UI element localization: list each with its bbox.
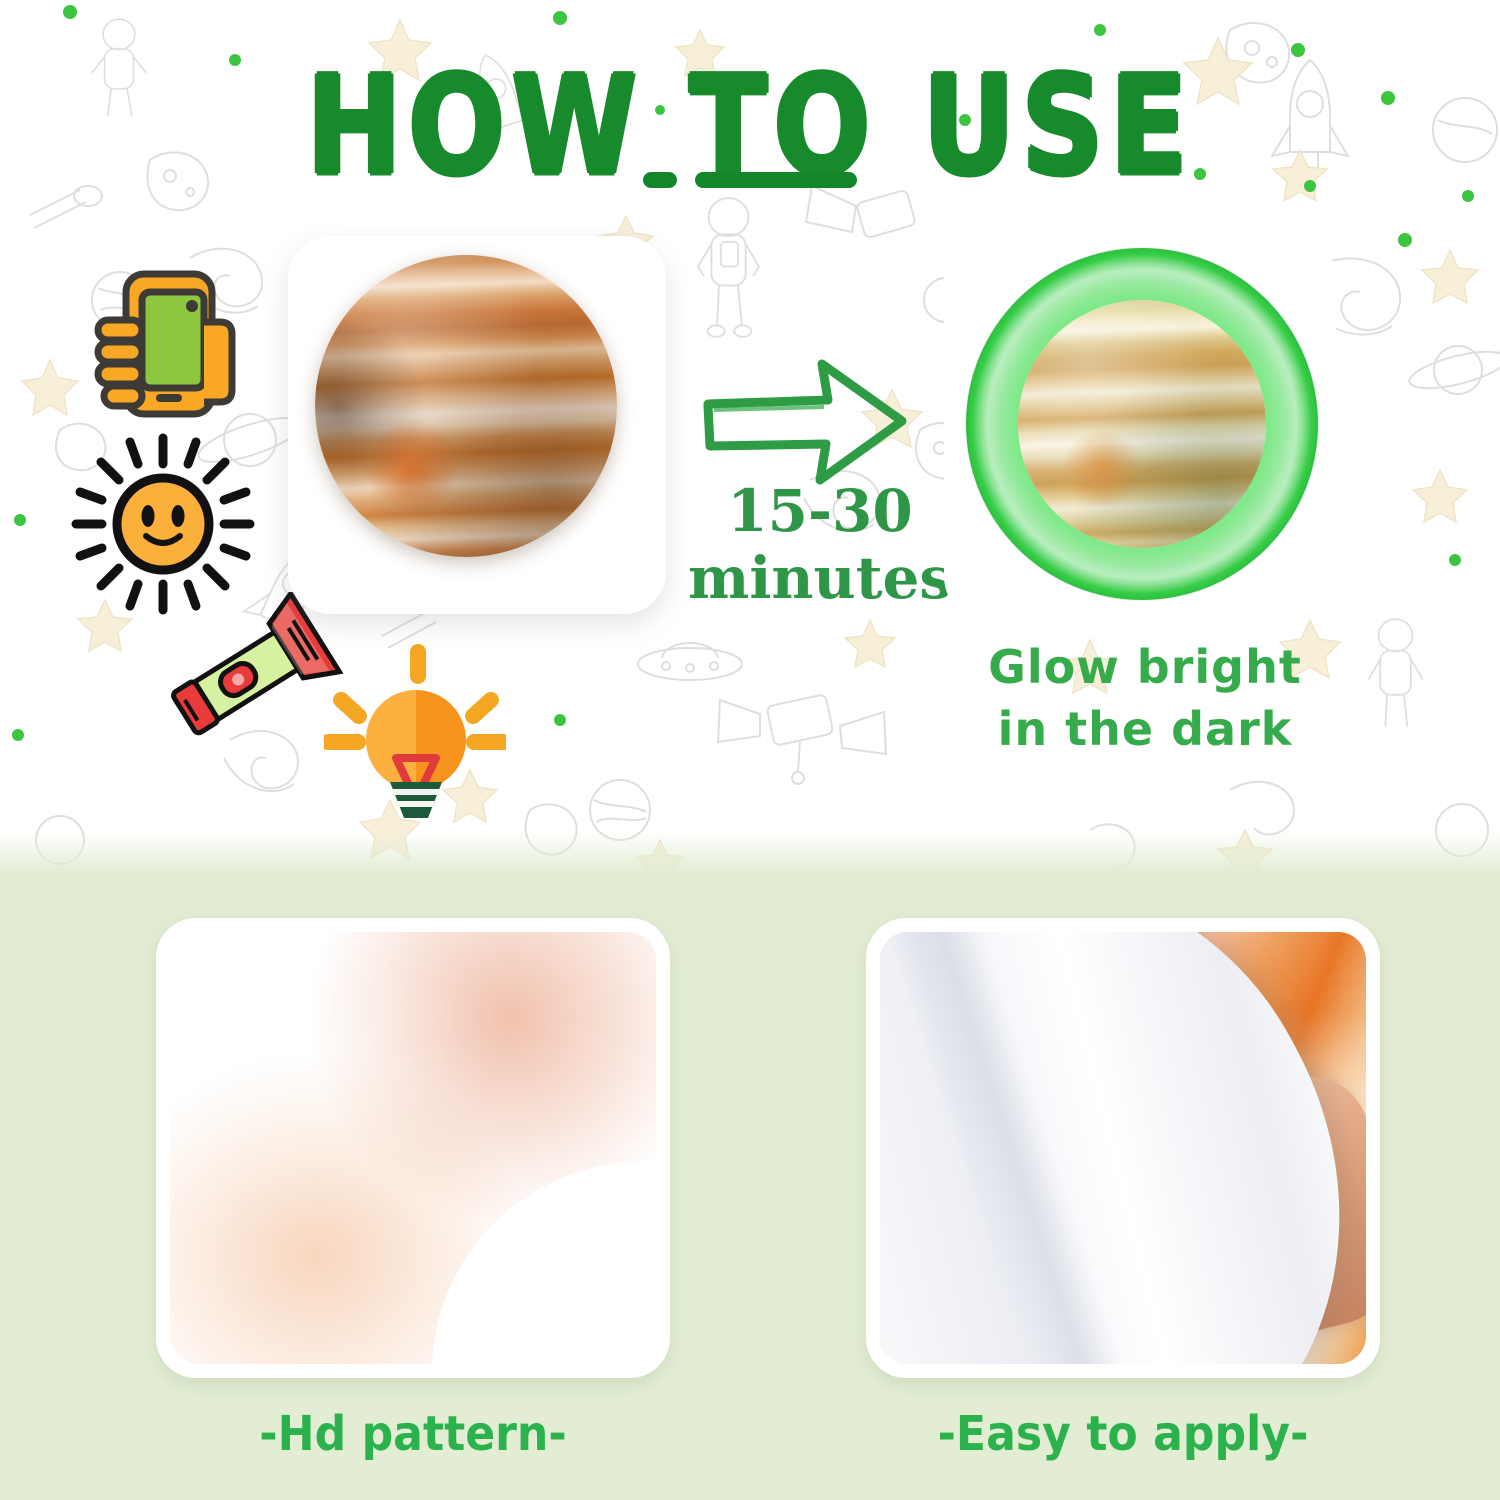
glow-caption-line2: in the dark bbox=[960, 698, 1330, 760]
sun-icon bbox=[68, 430, 258, 618]
arrow-right-icon bbox=[700, 358, 910, 488]
jupiter-sticker-daylight bbox=[315, 255, 617, 557]
flashlight-icon bbox=[158, 592, 348, 758]
easy-apply-caption: -Easy to apply- bbox=[887, 1406, 1360, 1462]
underline-bar-icon bbox=[695, 172, 857, 188]
page-title: HOW TO USE bbox=[0, 56, 1500, 174]
hd-pattern-panel bbox=[156, 918, 670, 1378]
section-gradient-fade bbox=[0, 832, 1500, 872]
infographic-page: HOW TO USE bbox=[0, 0, 1500, 1500]
underline-dash-icon bbox=[643, 172, 677, 188]
features-section: -Hd pattern- -Easy to apply- bbox=[0, 872, 1500, 1500]
hd-pattern-caption: -Hd pattern- bbox=[177, 1406, 650, 1462]
hd-pattern-image bbox=[170, 932, 656, 1364]
phone-in-hand-icon bbox=[88, 262, 238, 434]
charge-duration-line2: minutes bbox=[660, 545, 980, 612]
jupiter-texture bbox=[315, 255, 617, 557]
glow-caption: Glow bright in the dark bbox=[960, 636, 1330, 760]
jupiter-glow-core bbox=[1018, 300, 1266, 548]
jupiter-texture-glow bbox=[1018, 300, 1266, 548]
how-to-use-section: HOW TO USE bbox=[0, 0, 1500, 872]
charge-duration-line1: 15-30 bbox=[727, 477, 913, 545]
lightbulb-icon bbox=[324, 636, 506, 822]
title-underline bbox=[0, 172, 1500, 188]
charge-duration-text: 15-30 minutes bbox=[660, 478, 980, 611]
jupiter-sticker-glowing bbox=[966, 248, 1318, 600]
peeling-backing-paper-closeup bbox=[880, 932, 1366, 1364]
glow-caption-line1: Glow bright bbox=[960, 636, 1330, 698]
easy-apply-image bbox=[880, 932, 1366, 1364]
easy-apply-panel bbox=[866, 918, 1380, 1378]
